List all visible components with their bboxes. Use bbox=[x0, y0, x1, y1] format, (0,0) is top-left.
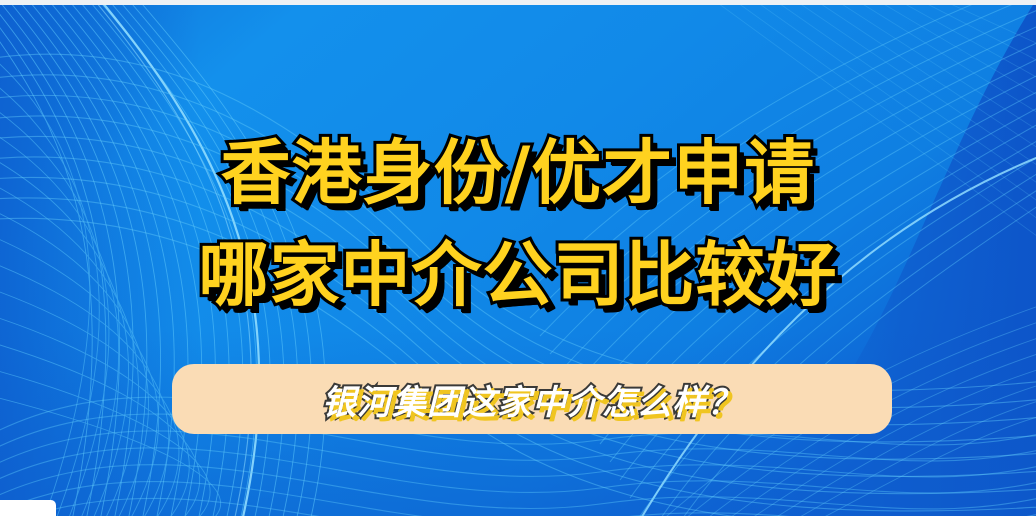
banner-content: 香港身份/优才申请 哪家中介公司比较好 银河集团这家中介怎么样？ bbox=[0, 0, 1036, 520]
promo-banner: 香港身份/优才申请 哪家中介公司比较好 银河集团这家中介怎么样？ bbox=[0, 0, 1036, 520]
headline-line-2: 哪家中介公司比较好 bbox=[0, 240, 1036, 310]
headline-line-1: 香港身份/优才申请 bbox=[0, 138, 1036, 208]
bottom-edge-strip bbox=[0, 516, 1036, 520]
bottom-left-corner-block bbox=[0, 500, 56, 520]
subtitle-label: 银河集团这家中介怎么样？ bbox=[172, 364, 892, 434]
top-edge-strip bbox=[0, 0, 1036, 5]
